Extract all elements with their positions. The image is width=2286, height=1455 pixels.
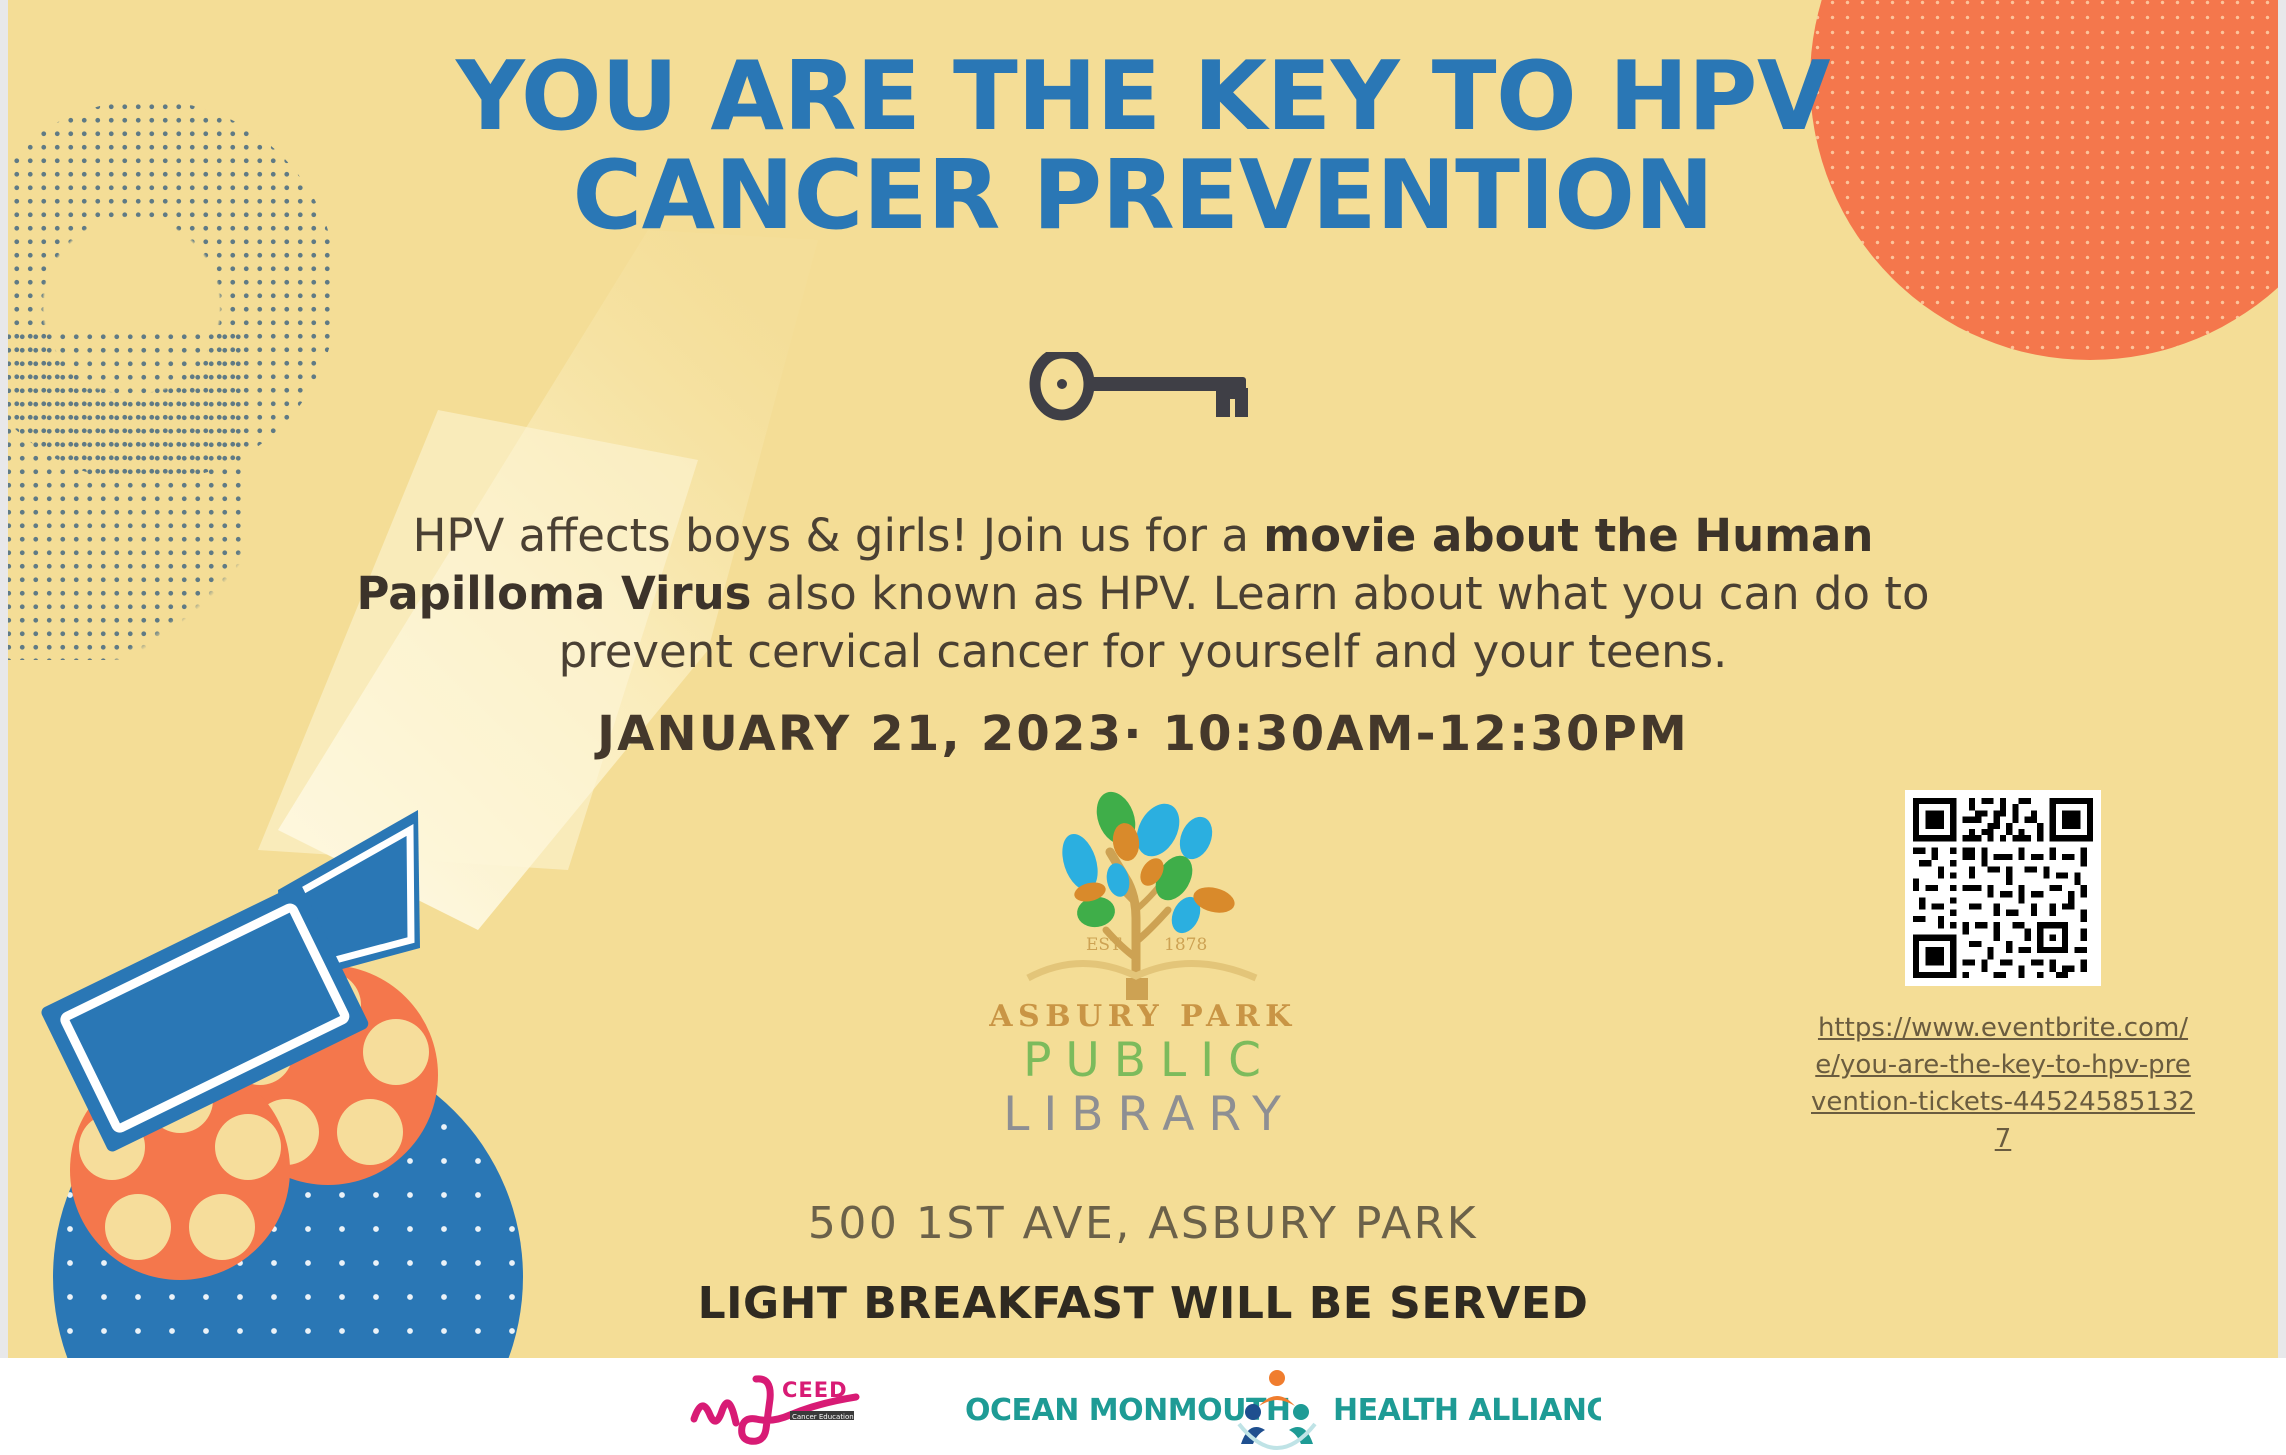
omha-left-text: OCEAN MONMOUTH (965, 1393, 1291, 1428)
library-word-public: PUBLIC (803, 1034, 1483, 1088)
body-text-part-1: HPV affects boys & girls! Join us for a (413, 509, 1264, 562)
dotted-wedge-decoration (8, 330, 248, 660)
eventbrite-url-link[interactable]: https://www.eventbrite.com/e/you-are-the… (1793, 1010, 2213, 1158)
body-text-part-2: also known as HPV. Learn about what you … (559, 567, 1930, 678)
library-est-left: EST. (1086, 935, 1124, 955)
headline-line-1: YOU ARE THE KEY TO HPV (456, 42, 1830, 152)
library-est-right: 1878 (1164, 935, 1207, 955)
svg-text:Cancer Education: Cancer Education (792, 1413, 854, 1421)
page-edge-right (2278, 0, 2286, 1358)
nj-ceed-logo: CEED Cancer Education (686, 1367, 901, 1447)
poster-canvas: YOU ARE THE KEY TO HPV CANCER PREVENTION… (8, 0, 2278, 1358)
breakfast-note: LIGHT BREAKFAST WILL BE SERVED (343, 1278, 1943, 1329)
page-title: YOU ARE THE KEY TO HPV CANCER PREVENTION (8, 48, 2278, 246)
library-name: ASBURY PARK (803, 999, 1483, 1034)
event-datetime: JANUARY 21, 2023· 10:30AM-12:30PM (343, 706, 1943, 762)
body-paragraph: HPV affects boys & girls! Join us for a … (333, 507, 1953, 681)
omha-right-text: HEALTH ALLIANCE (1333, 1393, 1601, 1428)
page-edge-left (0, 0, 8, 1358)
sponsor-footer: CEED Cancer Education OCEAN MONMOUTH HEA… (0, 1358, 2286, 1455)
ocean-monmouth-health-alliance-logo: OCEAN MONMOUTH HEALTH ALLIANCE (961, 1364, 1601, 1450)
qr-code-block[interactable]: https://www.eventbrite.com/e/you-are-the… (1793, 790, 2213, 1158)
tree-logo-icon: EST. 1878 (1018, 790, 1268, 1005)
key-icon (1028, 352, 1258, 422)
event-address: 500 1ST AVE, ASBURY PARK (393, 1198, 1893, 1249)
qr-code-icon[interactable] (1905, 790, 2101, 986)
hpv-event-flyer: YOU ARE THE KEY TO HPV CANCER PREVENTION… (0, 0, 2286, 1455)
library-word-library: LIBRARY (803, 1088, 1483, 1142)
library-logo-block: EST. 1878 ASBURY PARK PUBLIC LIBRARY (803, 790, 1483, 1141)
svg-text:CEED: CEED (782, 1378, 848, 1402)
headline-line-2: CANCER PREVENTION (8, 147, 2278, 246)
